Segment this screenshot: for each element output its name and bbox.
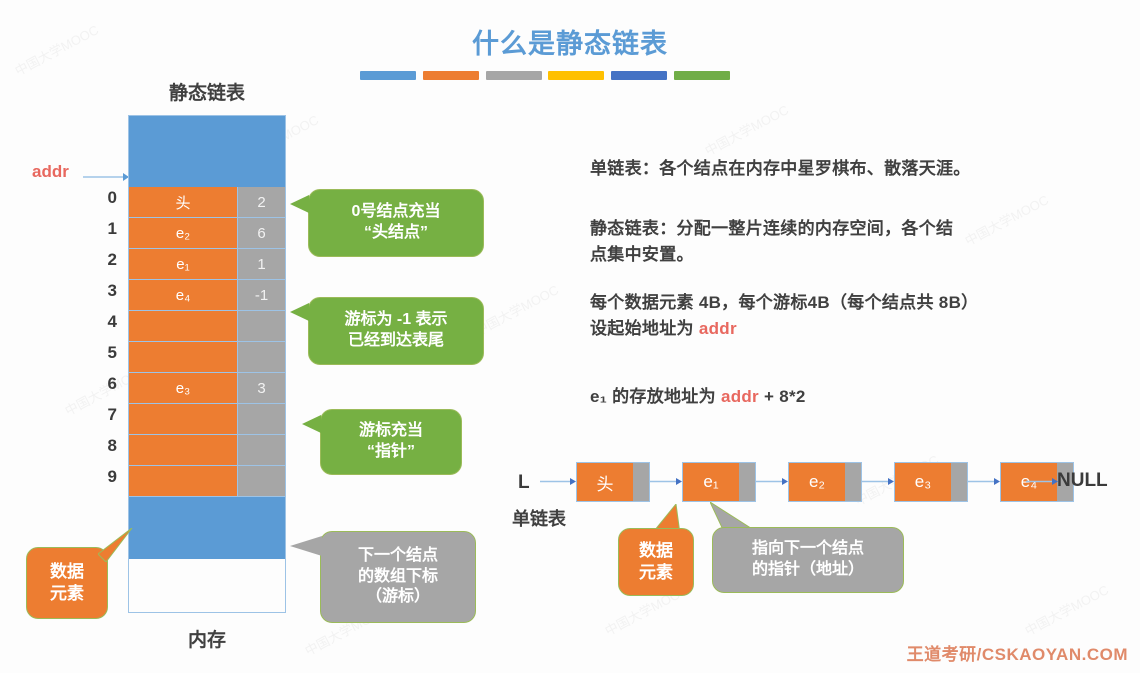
cell-cursor: 1	[237, 249, 285, 280]
arrow-icon	[862, 477, 894, 486]
table-row: e₄ -1	[129, 280, 285, 311]
callout-next-index: 下一个结点 的数组下标 （游标）	[320, 531, 476, 623]
row-index: 1	[95, 219, 117, 239]
table-row: e₃ 3	[129, 373, 285, 404]
arrow-icon	[540, 477, 576, 486]
cell-cursor	[237, 311, 285, 342]
callout-cursor-pointer: 游标充当 “指针”	[320, 409, 462, 475]
cell-data: e₄	[129, 280, 237, 311]
paragraph-address-formula: e₁ 的存放地址为 addr + 8*2	[590, 384, 1020, 410]
cell-cursor	[237, 404, 285, 435]
table-row: e₂ 6	[129, 218, 285, 249]
paragraph-line: 点集中安置。	[590, 245, 694, 264]
callout-line: 游标为 -1 表示	[344, 310, 447, 331]
color-bar-4	[548, 71, 604, 80]
list-node: 头	[576, 462, 650, 502]
list-node: e₁	[682, 462, 756, 502]
callout-line: 已经到达表尾	[348, 331, 444, 352]
callout-line: 指向下一个结点	[752, 539, 864, 560]
memory-table: 头 2 e₂ 6 e₁ 1 e₄ -1 e₃ 3	[128, 115, 286, 613]
cell-cursor	[237, 342, 285, 373]
linked-list-head-pointer-label: L	[518, 472, 530, 494]
callout-line: 游标充当	[359, 421, 423, 442]
row-index: 5	[95, 343, 117, 363]
node-pointer	[951, 463, 967, 501]
callout-line: 的数组下标	[358, 567, 438, 588]
arrow-icon	[968, 477, 1000, 486]
color-bar-5	[611, 71, 667, 80]
callout-line: 数据	[50, 561, 84, 583]
row-index: 9	[95, 467, 117, 487]
paragraph-line: + 8*2	[759, 387, 806, 406]
callout-line: （游标）	[366, 587, 430, 608]
list-node: e₃	[894, 462, 968, 502]
callout-head-node: 0号结点充当 “头结点”	[308, 189, 484, 257]
paragraph-line: 设起始地址为	[590, 319, 699, 338]
paragraph-singly-linked-list: 单链表：各个结点在内存中星罗棋布、散落天涯。	[590, 156, 1120, 182]
memory-free-space-bottom	[129, 497, 285, 559]
footer-branding: 王道考研/CSKAOYAN.COM	[907, 640, 1128, 665]
paragraph-sizes: 每个数据元素 4B，每个游标4B（每个结点共 8B） 设起始地址为 addr	[590, 290, 1120, 343]
cell-cursor: 3	[237, 373, 285, 404]
addr-arrow-icon	[83, 172, 129, 182]
cell-cursor	[237, 466, 285, 497]
cell-data: e₃	[129, 373, 237, 404]
cell-data	[129, 342, 237, 373]
callout-tail-tail-flag	[290, 303, 309, 321]
callout-list-data-element: 数据 元素	[618, 528, 694, 596]
cell-data: e₂	[129, 218, 237, 249]
row-index: 0	[95, 188, 117, 208]
cell-cursor	[237, 435, 285, 466]
table-row	[129, 435, 285, 466]
node-data: e₁	[683, 463, 739, 501]
arrow-icon	[756, 477, 788, 486]
callout-line: 元素	[639, 562, 673, 584]
addr-token: addr	[699, 319, 737, 338]
cell-data: e₁	[129, 249, 237, 280]
cell-data	[129, 466, 237, 497]
paragraph-line: 每个数据元素 4B，每个游标4B（每个结点共 8B）	[590, 293, 978, 312]
paragraph-line: 静态链表：分配一整片连续的内存空间，各个结	[590, 219, 953, 238]
callout-line: 元素	[50, 583, 84, 605]
callout-tail-next-index	[290, 536, 322, 556]
addr-label: addr	[32, 162, 69, 182]
callout-line: 0号结点充当	[352, 202, 441, 223]
linked-list-null-label: NULL	[1057, 470, 1108, 492]
table-row	[129, 311, 285, 342]
color-bar-1	[360, 71, 416, 80]
node-data: e₃	[895, 463, 951, 501]
callout-data-element-table: 数据 元素	[26, 547, 108, 619]
row-index: 2	[95, 250, 117, 270]
page-title: 什么是静态链表	[0, 22, 1140, 61]
callout-list-pointer: 指向下一个结点 的指针（地址）	[712, 527, 904, 593]
callout-tail-data-element-table	[98, 528, 134, 562]
watermark: 中国大学MOOC	[471, 279, 562, 339]
row-index: 4	[95, 312, 117, 332]
row-index: 7	[95, 405, 117, 425]
arrow-icon	[1026, 477, 1058, 486]
node-data: 头	[577, 463, 633, 501]
callout-tail-flag: 游标为 -1 表示 已经到达表尾	[308, 297, 484, 365]
color-bar-2	[423, 71, 479, 80]
node-pointer	[739, 463, 755, 501]
cell-data: 头	[129, 187, 237, 218]
addr-token: addr	[721, 387, 759, 406]
watermark: 中国大学MOOC	[1021, 579, 1112, 639]
callout-line: “头结点”	[364, 223, 428, 244]
cell-cursor: 2	[237, 187, 285, 218]
table-row: 头 2	[129, 187, 285, 218]
linked-list-caption: 单链表	[512, 505, 566, 531]
cell-cursor: -1	[237, 280, 285, 311]
memory-table-heading: 静态链表	[128, 78, 286, 105]
cell-data	[129, 404, 237, 435]
list-node: e₂	[788, 462, 862, 502]
row-index: 3	[95, 281, 117, 301]
callout-line: 数据	[639, 540, 673, 562]
row-index: 8	[95, 436, 117, 456]
table-row	[129, 466, 285, 497]
table-row	[129, 342, 285, 373]
row-index: 6	[95, 374, 117, 394]
cell-cursor: 6	[237, 218, 285, 249]
memory-label: 内存	[128, 625, 286, 652]
node-pointer	[633, 463, 649, 501]
callout-tail-head-node	[290, 195, 309, 213]
table-row: e₁ 1	[129, 249, 285, 280]
watermark: 中国大学MOOC	[701, 99, 792, 159]
cell-data	[129, 435, 237, 466]
node-pointer	[845, 463, 861, 501]
arrow-icon	[650, 477, 682, 486]
callout-line: 的指针（地址）	[752, 560, 864, 581]
callout-line: 下一个结点	[358, 546, 438, 567]
color-bar-6	[674, 71, 730, 80]
callout-tail-cursor-pointer	[302, 415, 321, 433]
cell-data	[129, 311, 237, 342]
paragraph-static-linked-list: 静态链表：分配一整片连续的内存空间，各个结 点集中安置。	[590, 216, 1110, 269]
color-bar-3	[486, 71, 542, 80]
paragraph-line: e₁ 的存放地址为	[590, 387, 721, 406]
table-row	[129, 404, 285, 435]
memory-free-space-top	[129, 116, 285, 187]
node-data: e₂	[789, 463, 845, 501]
callout-line: “指针”	[367, 442, 415, 463]
title-color-bars	[360, 71, 730, 80]
